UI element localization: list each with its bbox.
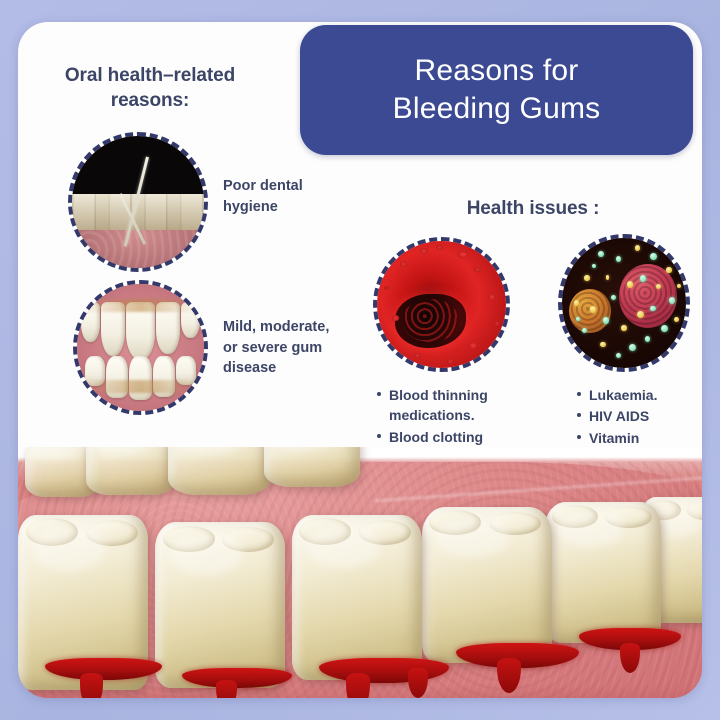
floss-teeth-photo-icon — [68, 132, 208, 272]
red-blood-cell — [499, 275, 504, 279]
blood-issue-item: Blood thinning medications. — [376, 385, 511, 426]
virus-particle — [621, 325, 626, 331]
molar-cusp — [687, 501, 702, 520]
virus-particle — [677, 284, 681, 288]
health-issues-heading: Health issues : — [418, 197, 648, 222]
page-title-line2: Bleeding Gums — [393, 90, 601, 128]
virus-particle — [600, 342, 605, 348]
gum-disease-label: Mild, moderate, or severe gum disease — [223, 317, 343, 379]
virus-particle — [637, 311, 644, 318]
red-blood-cell — [488, 294, 496, 300]
virus-particle — [656, 284, 661, 290]
virus-particle — [603, 317, 610, 324]
virus-particle — [629, 344, 636, 351]
back-molar — [168, 447, 271, 495]
virus-particle — [592, 264, 596, 268]
virus-particle — [616, 353, 621, 359]
virus-particle — [645, 336, 650, 342]
virus-particle — [674, 317, 679, 323]
red-blood-cell — [392, 315, 399, 320]
molar-cusp — [552, 505, 599, 527]
back-molar — [86, 447, 175, 495]
back-molar — [264, 447, 360, 487]
red-blood-cell — [400, 261, 407, 266]
virus-particle — [661, 325, 668, 332]
virus-particle — [627, 281, 634, 288]
red-blood-cell — [384, 286, 389, 290]
systemic-issue-item: HIV AIDS — [576, 406, 701, 426]
page-title-badge: Reasons for Bleeding Gums — [300, 25, 693, 155]
molar-cusp — [489, 512, 541, 535]
molar-cusp — [299, 518, 351, 545]
bleeding-gums-teeth-illustration — [18, 447, 702, 698]
front-molar — [422, 507, 552, 663]
virus-particle — [635, 245, 640, 251]
molar-cusp — [163, 526, 215, 553]
virus-particle — [650, 306, 655, 312]
molar-cusp — [359, 520, 411, 545]
virus-particle — [616, 256, 621, 262]
front-molar — [545, 502, 661, 643]
molar-cusp — [222, 527, 274, 552]
molar-cusp — [26, 518, 78, 546]
red-blood-cell — [447, 359, 454, 364]
blood-clot-photo-icon — [373, 237, 510, 372]
blood-drip — [346, 673, 370, 698]
front-molar — [292, 515, 422, 681]
virus-particle — [574, 300, 579, 306]
molar-cusp — [605, 506, 652, 527]
infographic-canvas: Oral health–related reasons: Poor dental… — [0, 0, 720, 720]
gum-disease-photo-icon — [73, 280, 208, 415]
red-blood-cell — [436, 245, 443, 250]
virus-particle — [606, 275, 610, 279]
virus-particle — [650, 253, 657, 260]
red-blood-cell — [420, 248, 428, 254]
red-blood-cell — [414, 353, 421, 358]
virus-particle — [598, 251, 605, 258]
page-title-line1: Reasons for — [415, 52, 579, 90]
red-blood-cell — [458, 251, 468, 259]
virus-particle — [590, 306, 597, 313]
oral-health-heading: Oral health–related reasons: — [50, 64, 250, 113]
virus-particle — [666, 267, 671, 273]
virus-particle — [584, 275, 589, 281]
molar-cusp — [86, 520, 138, 546]
red-blood-cell — [474, 267, 481, 272]
molar-cusp — [429, 510, 481, 535]
blood-drip — [80, 673, 104, 698]
red-blood-cell — [494, 321, 501, 326]
poor-dental-hygiene-label: Poor dental hygiene — [223, 176, 333, 217]
blood-drip — [216, 680, 237, 698]
systemic-issue-item: Lukaemia. — [576, 385, 701, 405]
front-molar — [155, 522, 285, 688]
red-blood-cell — [469, 342, 477, 348]
virus-cells-photo-icon — [558, 234, 690, 372]
virus-particle — [611, 295, 616, 301]
